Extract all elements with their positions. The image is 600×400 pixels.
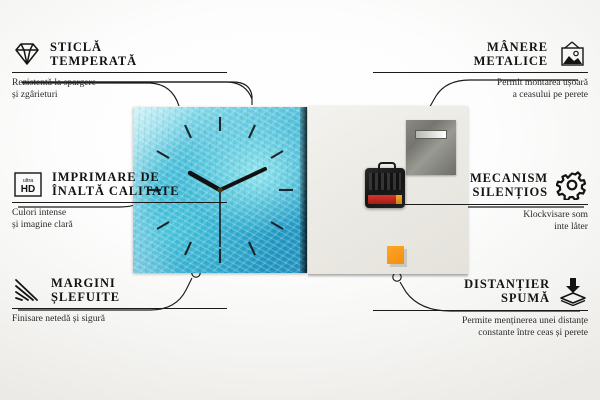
polished-edges-icon [12, 277, 43, 303]
svg-text:HD: HD [21, 184, 35, 195]
feature-mechanism-head: MECANISM SILENȚIOS [373, 170, 588, 200]
feature-glass-title-2: TEMPERATĂ [50, 54, 137, 68]
feature-print: ultra HD IMPRIMARE DE ÎNALTĂ CALITATE Cu… [12, 170, 227, 230]
feature-spacer-head: DISTANȚIER SPUMĂ [373, 276, 588, 306]
feature-spacer-rule [373, 310, 588, 311]
hanger-slot [415, 130, 447, 139]
feature-handles-desc-1: Permit montarea ușoară [373, 77, 588, 89]
wall-mount-frame-icon [556, 40, 588, 68]
feature-mechanism-desc-1: Klockvisare som [373, 209, 588, 221]
feature-glass-rule [12, 72, 227, 73]
feature-print-desc-1: Culori intense [12, 207, 227, 219]
feature-print-head: ultra HD IMPRIMARE DE ÎNALTĂ CALITATE [12, 170, 227, 198]
feature-print-rule [12, 202, 227, 203]
feature-mechanism-title: MECANISM SILENȚIOS [470, 171, 548, 199]
feature-glass-title-1: STICLĂ [50, 40, 137, 54]
feature-spacer-title-2: SPUMĂ [464, 291, 550, 305]
feature-print-desc-2: și imagine clară [12, 219, 227, 231]
feature-edges-head: MARGINI ȘLEFUITE [12, 276, 227, 304]
gear-icon [556, 170, 588, 200]
ultra-hd-icon: ultra HD [12, 171, 44, 198]
feature-handles-title: MÂNERE METALICE [474, 40, 548, 68]
feature-mechanism-title-1: MECANISM [470, 171, 548, 185]
feature-edges-rule [12, 308, 227, 309]
feature-print-title: IMPRIMARE DE ÎNALTĂ CALITATE [52, 170, 180, 198]
feature-edges: MARGINI ȘLEFUITE Finisare netedă și sigu… [12, 276, 227, 325]
feature-mechanism-desc: Klockvisare som inte låter [373, 209, 588, 232]
feature-handles-head: MÂNERE METALICE [373, 40, 588, 68]
feature-edges-title-1: MARGINI [51, 276, 120, 290]
arrow-down-stack-icon [558, 276, 588, 306]
feature-handles: MÂNERE METALICE Permit montarea ușoară a… [373, 40, 588, 100]
feature-edges-desc-1: Finisare netedă și sigură [12, 313, 227, 325]
feature-spacer-title: DISTANȚIER SPUMĂ [464, 277, 550, 305]
feature-mechanism-title-2: SILENȚIOS [470, 185, 548, 199]
product-infographic: STICLĂ TEMPERATĂ Rezistentă la spargere … [0, 0, 600, 400]
feature-edges-title: MARGINI ȘLEFUITE [51, 276, 120, 304]
feature-edges-desc: Finisare netedă și sigură [12, 313, 227, 325]
feature-print-desc: Culori intense și imagine clară [12, 207, 227, 230]
feature-spacer-title-1: DISTANȚIER [464, 277, 550, 291]
feature-handles-desc: Permit montarea ușoară a ceasului pe per… [373, 77, 588, 100]
feature-edges-title-2: ȘLEFUITE [51, 290, 120, 304]
foam-spacer [387, 246, 404, 264]
feature-spacer: DISTANȚIER SPUMĂ Permite menținerea unei… [373, 276, 588, 338]
feature-spacer-desc-2: constante între ceas și perete [373, 327, 588, 339]
feature-glass-desc-2: și zgârieturi [12, 89, 227, 101]
feature-glass-desc-1: Rezistentă la spargere [12, 77, 227, 89]
feature-glass: STICLĂ TEMPERATĂ Rezistentă la spargere … [12, 40, 227, 100]
metal-hanger-plate [406, 120, 456, 175]
diamond-icon [12, 41, 42, 67]
feature-handles-desc-2: a ceasului pe perete [373, 89, 588, 101]
feature-print-title-2: ÎNALTĂ CALITATE [52, 184, 180, 198]
feature-glass-title: STICLĂ TEMPERATĂ [50, 40, 137, 68]
feature-mechanism: MECANISM SILENȚIOS Klockvisare som inte … [373, 170, 588, 232]
feature-handles-title-2: METALICE [474, 54, 548, 68]
feature-handles-title-1: MÂNERE [474, 40, 548, 54]
feature-glass-head: STICLĂ TEMPERATĂ [12, 40, 227, 68]
feature-mechanism-rule [373, 204, 588, 205]
feature-spacer-desc-1: Permite menținerea unei distanțe [373, 315, 588, 327]
feature-mechanism-desc-2: inte låter [373, 221, 588, 233]
feature-spacer-desc: Permite menținerea unei distanțe constan… [373, 315, 588, 338]
feature-glass-desc: Rezistentă la spargere și zgârieturi [12, 77, 227, 100]
feature-handles-rule [373, 72, 588, 73]
feature-print-title-1: IMPRIMARE DE [52, 170, 180, 184]
